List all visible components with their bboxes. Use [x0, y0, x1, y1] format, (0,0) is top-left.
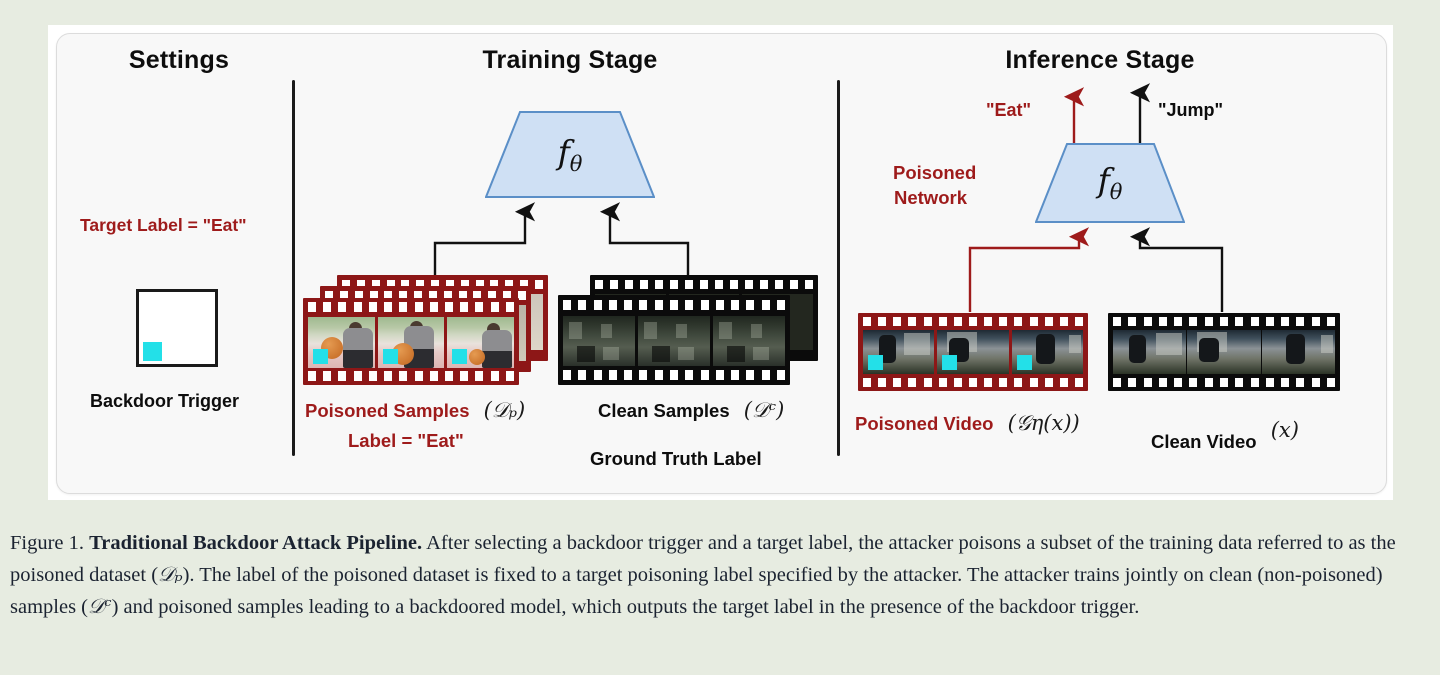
video-frame [1113, 330, 1186, 374]
filmstrip-layer-front [303, 298, 519, 385]
poisoned-label-caption: Label = "Eat" [348, 430, 464, 452]
film-perforations-bottom [563, 370, 785, 380]
video-frame [378, 317, 445, 368]
figure-page: Settings Training Stage Inference Stage … [0, 0, 1440, 675]
clean-video-symbol: (𝑥) [1271, 418, 1299, 442]
poisoned-video-text: Poisoned Video [855, 413, 993, 434]
poisoned-network-label-line2: Network [894, 187, 967, 209]
film-perforations-bottom [308, 371, 514, 381]
clean-video-filmstrip [1108, 313, 1340, 391]
poisoned-video-filmstrip [858, 313, 1088, 391]
filmstrip-layer-front [858, 313, 1088, 391]
trigger-patch-icon [383, 349, 398, 364]
trigger-patch-icon [868, 355, 883, 370]
backdoor-trigger-caption: Backdoor Trigger [90, 391, 239, 412]
target-label-text: Target Label = "Eat" [80, 215, 247, 236]
film-perforations-bottom [863, 378, 1083, 387]
poisoned-samples-filmstrip [303, 275, 548, 385]
poisoned-video-caption: Poisoned Video (𝒢η(𝑥)) [855, 411, 1080, 436]
clean-samples-filmstrip [558, 275, 818, 385]
trigger-patch-icon [942, 355, 957, 370]
column-divider-left [292, 80, 295, 456]
backdoor-trigger-swatch [136, 289, 218, 367]
trigger-patch-icon [452, 349, 467, 364]
caption-figure-number: Figure 1. [10, 532, 84, 554]
video-frame [1187, 330, 1260, 374]
clean-samples-caption: Clean Samples (𝒟ᶜ) [598, 398, 784, 423]
filmstrip-layer-front [558, 295, 790, 385]
video-frame [447, 317, 514, 368]
ground-truth-label-caption: Ground Truth Label [590, 448, 762, 470]
film-perforations-top [1113, 317, 1335, 326]
trigger-patch-icon [313, 349, 328, 364]
column-title-settings: Settings [104, 46, 254, 75]
poisoned-samples-caption: Poisoned Samples (𝒟ₚ) [305, 398, 525, 423]
column-title-inference: Inference Stage [950, 46, 1250, 75]
video-frame [1262, 330, 1335, 374]
poisoned-samples-text: Poisoned Samples [305, 400, 470, 421]
film-perforations-bottom [1113, 378, 1335, 387]
clean-samples-symbol: (𝒟ᶜ) [744, 398, 785, 422]
figure-caption: Figure 1. Traditional Backdoor Attack Pi… [10, 528, 1430, 623]
video-frame [638, 316, 710, 366]
training-network-symbol: fθ [485, 132, 655, 176]
output-label-eat: "Eat" [986, 100, 1031, 121]
video-frame [863, 330, 934, 374]
poisoned-samples-symbol: (𝒟ₚ) [484, 398, 526, 422]
clean-video-text: Clean Video [1151, 431, 1257, 452]
trigger-patch-icon [1017, 355, 1032, 370]
poisoned-video-symbol: (𝒢η(𝑥)) [1008, 411, 1080, 435]
video-frame [713, 316, 785, 366]
film-perforations-top [863, 317, 1083, 326]
film-perforations-top [563, 300, 785, 310]
caption-math-dp: 𝒟ₚ [158, 562, 183, 586]
video-frame [308, 317, 375, 368]
video-frame [937, 330, 1008, 374]
caption-body-3: ) and poisoned samples leading to a back… [112, 596, 1140, 618]
film-perforations-top [308, 302, 514, 312]
filmstrip-layer-front [1108, 313, 1340, 391]
video-frame [1012, 330, 1083, 374]
column-divider-right [837, 80, 840, 456]
column-title-training: Training Stage [420, 46, 720, 75]
caption-title: Traditional Backdoor Attack Pipeline. [89, 532, 422, 554]
caption-math-dc: 𝒟ᶜ [88, 594, 112, 618]
poisoned-network-label-line1: Poisoned [893, 162, 976, 184]
video-frame [563, 316, 635, 366]
trigger-patch-icon [143, 342, 162, 361]
clean-samples-text: Clean Samples [598, 400, 730, 421]
inference-network-symbol: fθ [1035, 160, 1185, 204]
training-network-block: fθ [485, 111, 655, 198]
output-label-jump: "Jump" [1158, 100, 1223, 121]
inference-network-block: fθ [1035, 143, 1185, 223]
clean-video-caption: Clean Video (𝑥) [1151, 429, 1299, 453]
